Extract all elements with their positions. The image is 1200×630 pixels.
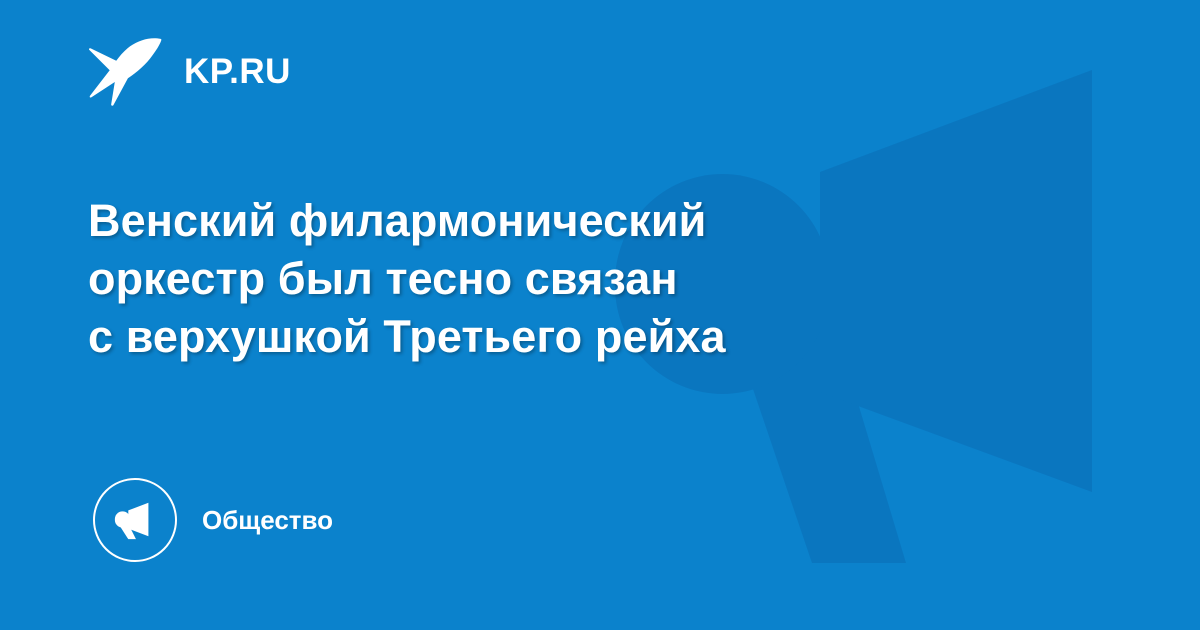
social-share-card: KP.RU Венский филармонический оркестр бы… bbox=[0, 0, 1200, 630]
brand-header: KP.RU bbox=[88, 36, 291, 106]
headline-line-2: оркестр был тесно связан bbox=[88, 250, 968, 308]
headline-line-1: Венский филармонический bbox=[88, 192, 968, 250]
category-icon-circle bbox=[93, 478, 177, 562]
category-label: Общество bbox=[202, 507, 333, 533]
category-badge[interactable]: Общество bbox=[93, 478, 333, 562]
brand-wordmark: KP.RU bbox=[184, 54, 291, 89]
headline-line-3: с верхушкой Третьего рейха bbox=[88, 308, 968, 366]
headline: Венский филармонический оркестр был тесн… bbox=[88, 192, 968, 366]
megaphone-icon bbox=[112, 497, 158, 543]
swallow-bird-icon bbox=[88, 36, 162, 106]
